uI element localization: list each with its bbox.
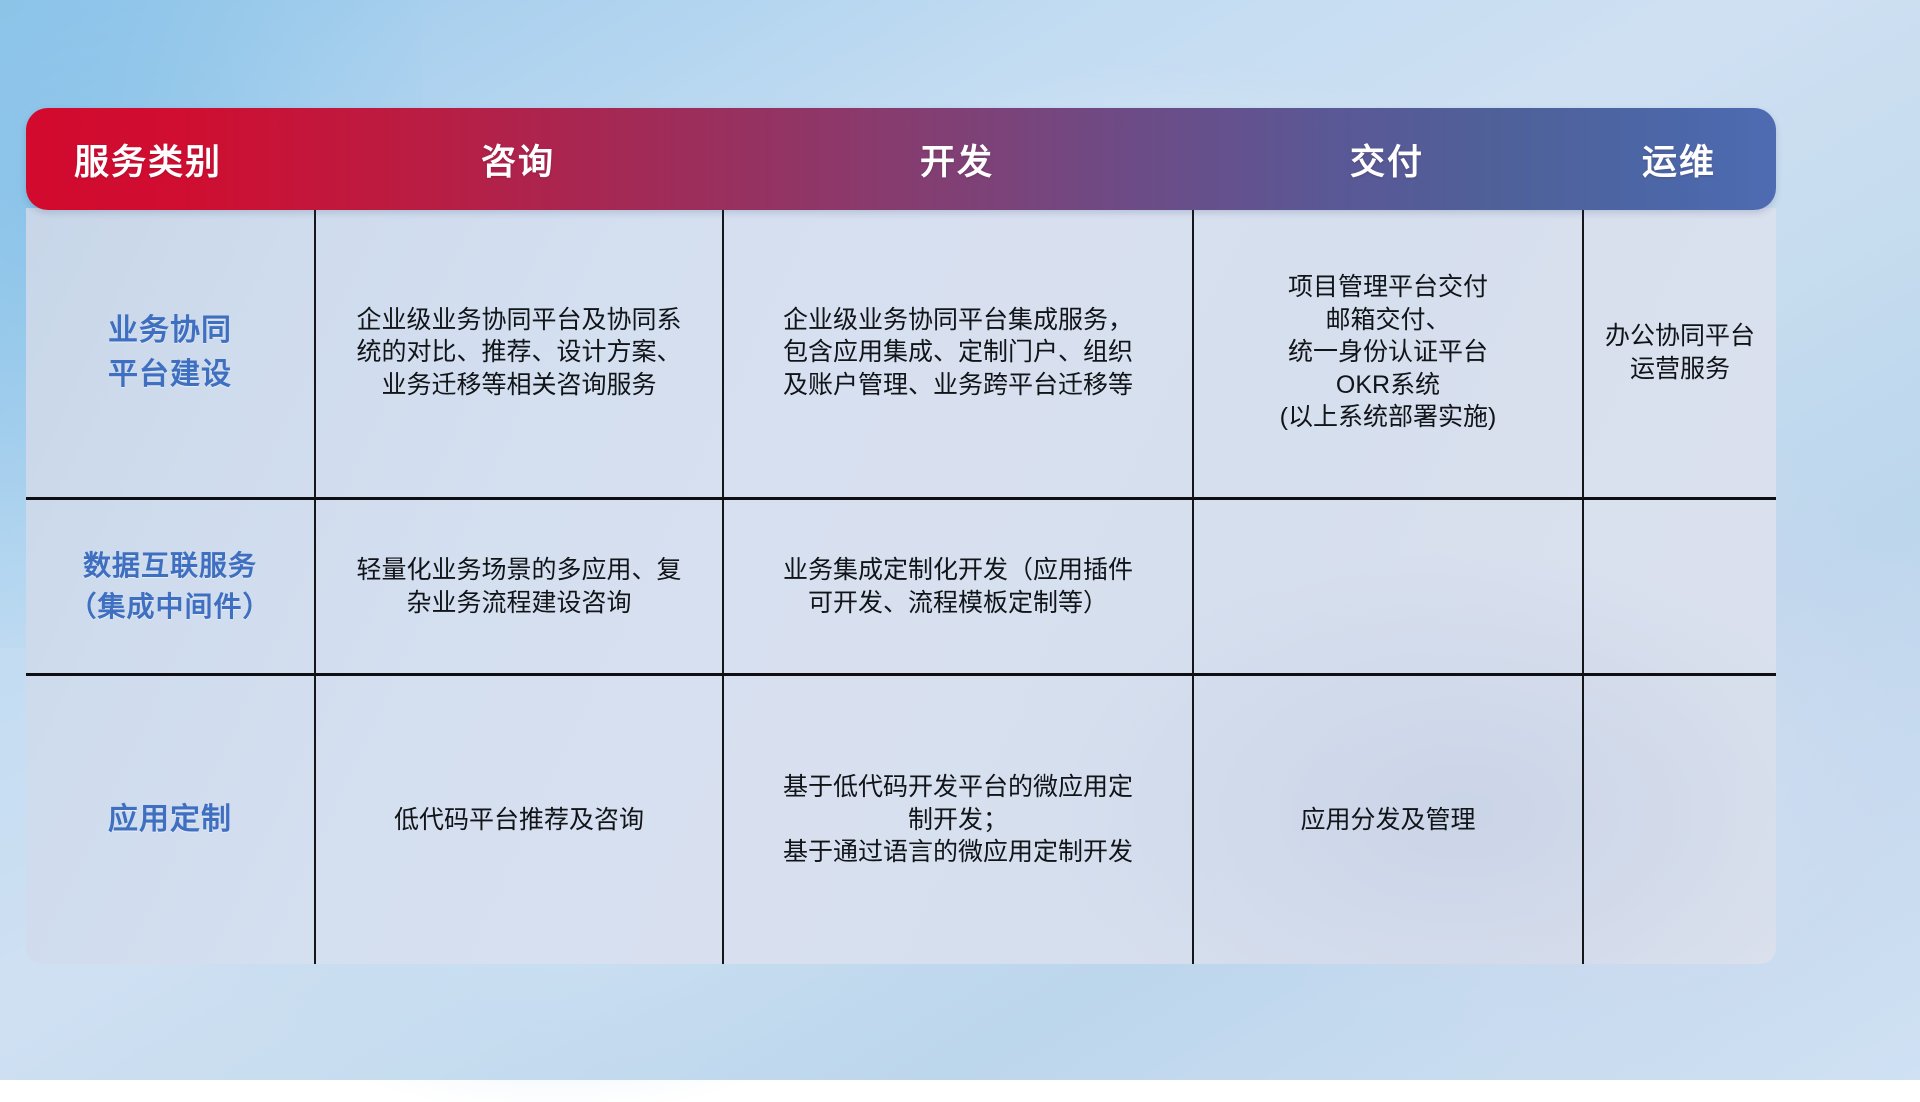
row-3-category-cell[interactable]: 应用定制 [26, 676, 314, 964]
row-3-development-cell[interactable]: 基于低代码开发平台的微应用定 制开发； 基于通过语言的微应用定制开发 [722, 676, 1192, 964]
row-3-operations-cell[interactable] [1582, 676, 1776, 964]
row-1-consulting-cell[interactable]: 企业级业务协同平台及协同系 统的对比、推荐、设计方案、 业务迁移等相关咨询服务 [314, 208, 722, 500]
row-1-development-cell[interactable]: 企业级业务协同平台集成服务， 包含应用集成、定制门户、组织 及账户管理、业务跨平… [722, 208, 1192, 500]
row-2-operations-cell[interactable] [1582, 500, 1776, 676]
row-2-delivery-cell[interactable] [1192, 500, 1582, 676]
column-header-operations[interactable]: 运维 [1582, 134, 1776, 185]
row-1-operations-cell[interactable]: 办公协同平台运营服务 [1582, 208, 1776, 500]
column-header-category[interactable]: 服务类别 [26, 134, 314, 185]
column-header-consulting[interactable]: 咨询 [314, 134, 722, 185]
row-1-category-cell[interactable]: 业务协同 平台建设 [26, 208, 314, 500]
row-1-delivery-cell[interactable]: 项目管理平台交付 邮箱交付、 统一身份认证平台 OKR系统 (以上系统部署实施) [1192, 208, 1582, 500]
table-body-panel: 业务协同 平台建设 企业级业务协同平台及协同系 统的对比、推荐、设计方案、 业务… [26, 208, 1776, 964]
table-header-row: 服务类别 咨询 开发 交付 运维 [26, 108, 1776, 210]
row-2-development-cell[interactable]: 业务集成定制化开发（应用插件 可开发、流程模板定制等） [722, 500, 1192, 676]
row-3-consulting-cell[interactable]: 低代码平台推荐及咨询 [314, 676, 722, 964]
row-2-category-cell[interactable]: 数据互联服务 （集成中间件） [26, 500, 314, 676]
service-category-table: 服务类别 咨询 开发 交付 运维 业务协同 平台建设 企业级业务协同平台及协同系… [26, 108, 1776, 964]
row-2-consulting-cell[interactable]: 轻量化业务场景的多应用、复 杂业务流程建设咨询 [314, 500, 722, 676]
table-grid: 业务协同 平台建设 企业级业务协同平台及协同系 统的对比、推荐、设计方案、 业务… [26, 208, 1776, 964]
column-header-delivery[interactable]: 交付 [1192, 134, 1582, 185]
column-header-development[interactable]: 开发 [722, 134, 1192, 185]
row-3-delivery-cell[interactable]: 应用分发及管理 [1192, 676, 1582, 964]
table-header-band: 服务类别 咨询 开发 交付 运维 [26, 108, 1776, 210]
